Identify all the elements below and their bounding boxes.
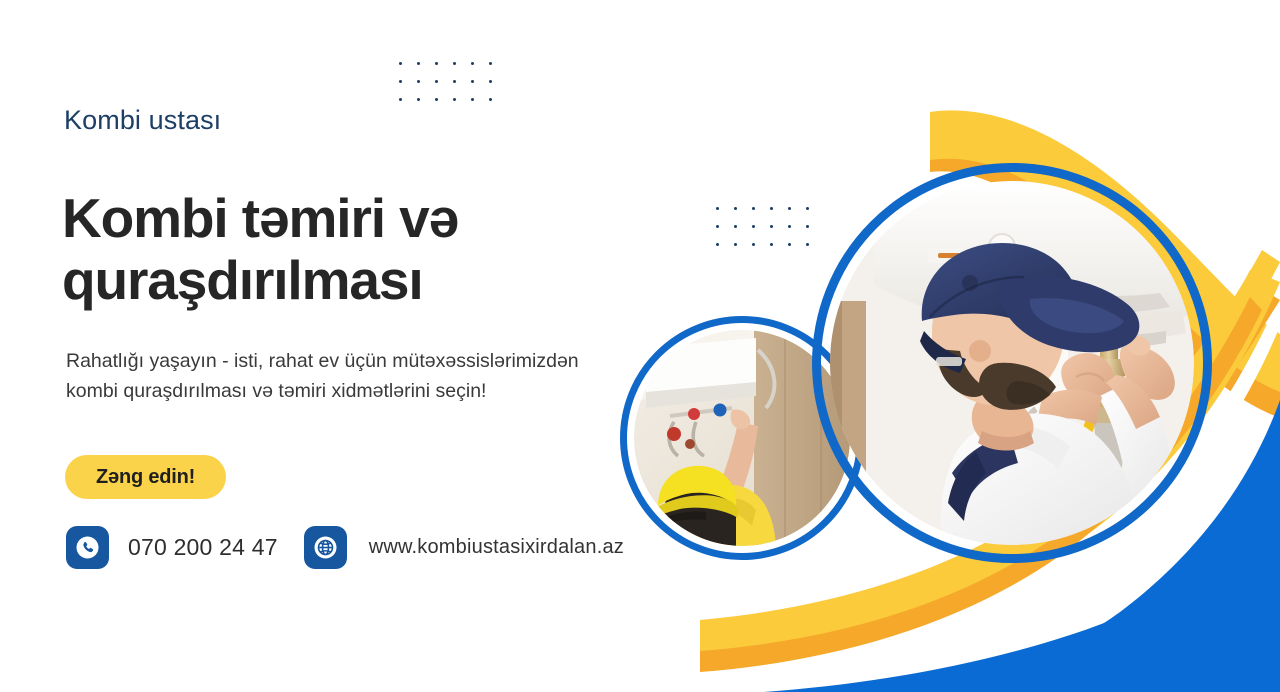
phone-number: 070 200 24 47 xyxy=(128,534,278,561)
hero-description: Rahatlığı yaşayın - isti, rahat ev üçün … xyxy=(66,346,586,407)
headline-line-2: quraşdırılması xyxy=(62,249,642,311)
phone-icon xyxy=(66,526,109,569)
page-title: Kombi təmiri və quraşdırılması xyxy=(62,187,642,311)
dot xyxy=(806,207,809,210)
website-url: www.kombiustasixirdalan.az xyxy=(369,536,624,559)
hero-content: Kombi ustası Kombi təmiri və quraşdırılm… xyxy=(64,0,664,692)
photo-technician-navy xyxy=(830,181,1194,545)
headline-line-1: Kombi təmiri və xyxy=(62,187,458,249)
phone-contact[interactable]: 070 200 24 47 xyxy=(66,526,278,569)
globe-icon xyxy=(304,526,347,569)
call-now-button[interactable]: Zəng edin! xyxy=(65,455,226,499)
hero-banner: Kombi ustası Kombi təmiri və quraşdırılm… xyxy=(0,0,1280,692)
dot xyxy=(806,243,809,246)
contact-row: 070 200 24 47 www.kombi xyxy=(66,526,624,569)
dot xyxy=(806,225,809,228)
eyebrow-text: Kombi ustası xyxy=(64,105,221,136)
dot-grid-row xyxy=(716,207,809,210)
website-contact[interactable]: www.kombiustasixirdalan.az xyxy=(304,526,624,569)
dot-grid-row xyxy=(716,243,809,246)
dot-grid-row xyxy=(716,225,809,228)
dot-grid-middle xyxy=(716,207,809,246)
